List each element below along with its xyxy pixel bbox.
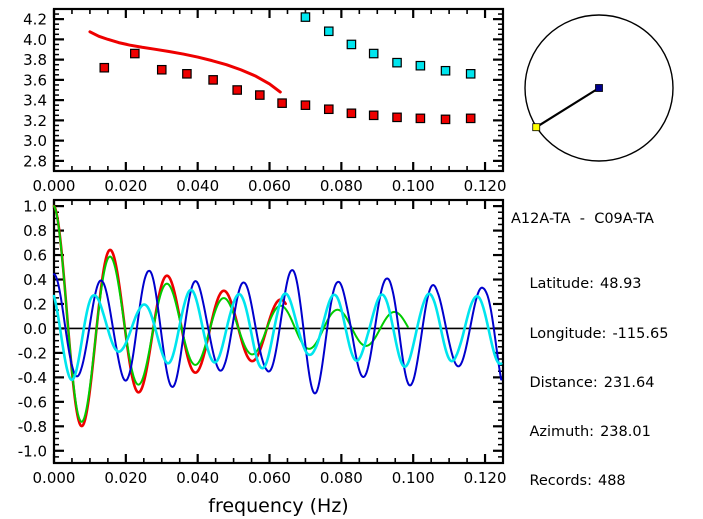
data-point-marker xyxy=(347,40,355,48)
waveform-chart-panel: 0.0000.0200.0400.0600.0800.1000.120-1.0-… xyxy=(0,196,511,519)
y-tick-label: 0.4 xyxy=(23,271,47,289)
data-point-marker xyxy=(325,105,333,113)
data-point-marker xyxy=(301,13,309,21)
x-tick-label: 0.100 xyxy=(392,469,435,487)
y-tick-label: 3.4 xyxy=(23,92,47,110)
x-tick-label: 0.000 xyxy=(33,177,76,195)
path-diagram-panel xyxy=(511,0,703,178)
x-tick-label: 0.080 xyxy=(320,469,363,487)
y-tick-label: 3.6 xyxy=(23,71,47,89)
y-tick-label: -0.6 xyxy=(18,393,47,411)
data-point-marker xyxy=(325,27,333,35)
station-pair-info: A12A-TA - C09A-TA Latitude:48.93 Longitu… xyxy=(511,178,703,490)
x-axis-title: frequency (Hz) xyxy=(208,495,348,517)
latitude-value: 48.93 xyxy=(600,276,642,292)
path-diagram-svg xyxy=(511,0,703,178)
data-point-marker xyxy=(369,111,377,119)
data-point-marker xyxy=(209,76,217,84)
waveform-chart-svg: 0.0000.0200.0400.0600.0800.1000.120-1.0-… xyxy=(0,196,511,519)
data-point-marker xyxy=(256,91,264,99)
y-tick-label: -0.8 xyxy=(18,418,47,436)
data-point-marker xyxy=(393,113,401,121)
azimuth-value: 238.01 xyxy=(600,424,651,440)
info-row-latitude: Latitude:48.93 xyxy=(511,260,703,276)
x-tick-label: 0.040 xyxy=(176,469,219,487)
y-tick-label: -0.2 xyxy=(18,344,47,362)
records-label: Records: xyxy=(529,473,592,489)
x-tick-label: 0.080 xyxy=(320,177,363,195)
data-point-marker xyxy=(416,62,424,70)
info-row-records: Records:488 xyxy=(511,457,703,473)
x-tick-label: 0.120 xyxy=(464,177,507,195)
y-tick-label: 0.6 xyxy=(23,247,47,265)
y-tick-label: 1.0 xyxy=(23,198,47,216)
records-value: 488 xyxy=(598,473,626,489)
series-reference-model-curve xyxy=(90,32,280,92)
data-point-marker xyxy=(278,99,286,107)
data-point-marker xyxy=(233,86,241,94)
x-tick-label: 0.060 xyxy=(248,177,291,195)
data-point-marker xyxy=(158,66,166,74)
y-tick-label: 0.0 xyxy=(23,320,47,338)
data-point-marker xyxy=(441,67,449,75)
y-tick-label: 4.2 xyxy=(23,11,47,29)
longitude-value: -115.65 xyxy=(612,326,668,342)
dispersion-chart-panel: 0.0000.0200.0400.0600.0800.1000.1202.83.… xyxy=(0,0,511,196)
ray-path-line xyxy=(536,88,599,127)
y-tick-label: 3.0 xyxy=(23,132,47,150)
dispersion-chart-svg: 0.0000.0200.0400.0600.0800.1000.1202.83.… xyxy=(0,0,511,196)
y-tick-label: 3.2 xyxy=(23,112,47,130)
x-tick-label: 0.040 xyxy=(176,177,219,195)
series-group-velocity-red xyxy=(100,49,475,123)
y-tick-label: 0.8 xyxy=(23,222,47,240)
y-tick-label: 4.0 xyxy=(23,31,47,49)
x-tick-label: 0.020 xyxy=(104,177,147,195)
azimuth-label: Azimuth: xyxy=(529,424,594,440)
data-point-marker xyxy=(416,114,424,122)
info-row-longitude: Longitude:-115.65 xyxy=(511,309,703,325)
station-pair-title: A12A-TA - C09A-TA xyxy=(511,211,703,227)
y-tick-label: -0.4 xyxy=(18,369,47,387)
data-point-marker xyxy=(347,109,355,117)
latitude-label: Latitude: xyxy=(529,276,594,292)
distance-label: Distance: xyxy=(529,375,597,391)
data-point-marker xyxy=(466,70,474,78)
data-point-marker xyxy=(466,114,474,122)
data-point-marker xyxy=(131,49,139,57)
series-trace-blue xyxy=(54,270,501,393)
data-point-marker xyxy=(369,49,377,57)
data-point-marker xyxy=(393,58,401,66)
x-tick-label: 0.120 xyxy=(464,469,507,487)
y-tick-label: -1.0 xyxy=(18,442,47,460)
station-marker xyxy=(596,85,603,92)
data-point-marker xyxy=(100,64,108,72)
y-tick-label: 3.8 xyxy=(23,51,47,69)
series-phase-velocity-cyan xyxy=(301,13,475,78)
info-row-azimuth: Azimuth:238.01 xyxy=(511,408,703,424)
event-marker xyxy=(533,124,540,131)
y-tick-label: 0.2 xyxy=(23,295,47,313)
distance-value: 231.64 xyxy=(604,375,655,391)
data-point-marker xyxy=(183,70,191,78)
x-tick-label: 0.100 xyxy=(392,177,435,195)
x-tick-label: 0.000 xyxy=(33,469,76,487)
x-tick-label: 0.060 xyxy=(248,469,291,487)
longitude-label: Longitude: xyxy=(529,326,606,342)
y-tick-label: 2.8 xyxy=(23,152,47,170)
data-point-marker xyxy=(441,115,449,123)
info-row-distance: Distance:231.64 xyxy=(511,358,703,374)
x-tick-label: 0.020 xyxy=(104,469,147,487)
data-point-marker xyxy=(301,101,309,109)
